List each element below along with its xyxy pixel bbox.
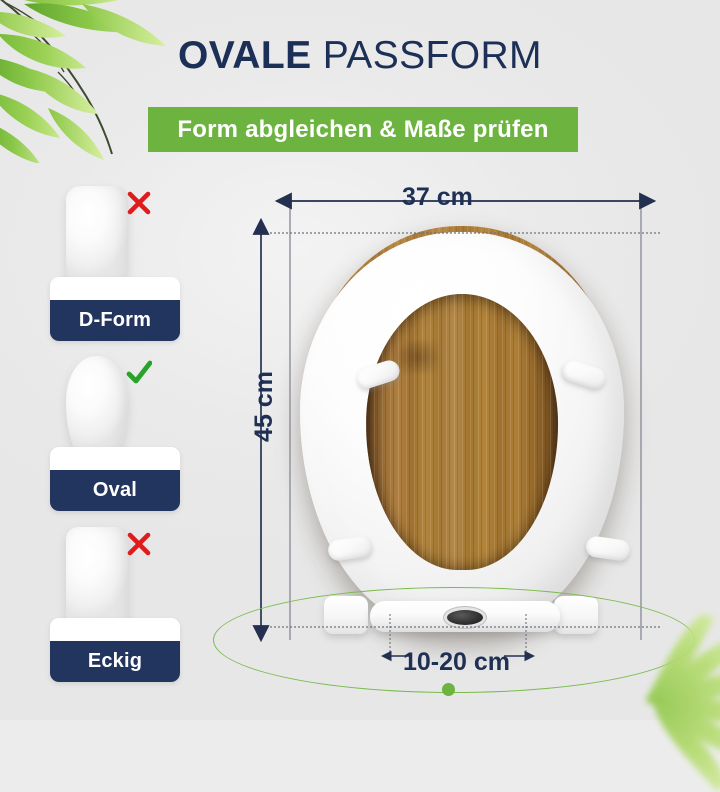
height-dimension-label: 45 cm bbox=[250, 371, 279, 442]
width-dimension-label: 37 cm bbox=[402, 183, 473, 212]
bamboo-leaf-decoration-bottom bbox=[560, 614, 720, 754]
hinge-spacing-label: 10-20 cm bbox=[403, 648, 510, 677]
infographic-canvas: OVALE PASSFORM Form abgleichen & Maße pr… bbox=[0, 0, 720, 720]
ellipse-marker-dot bbox=[442, 683, 455, 696]
dimension-annotations: 37 cm 45 cm 10-20 cm bbox=[0, 0, 720, 720]
